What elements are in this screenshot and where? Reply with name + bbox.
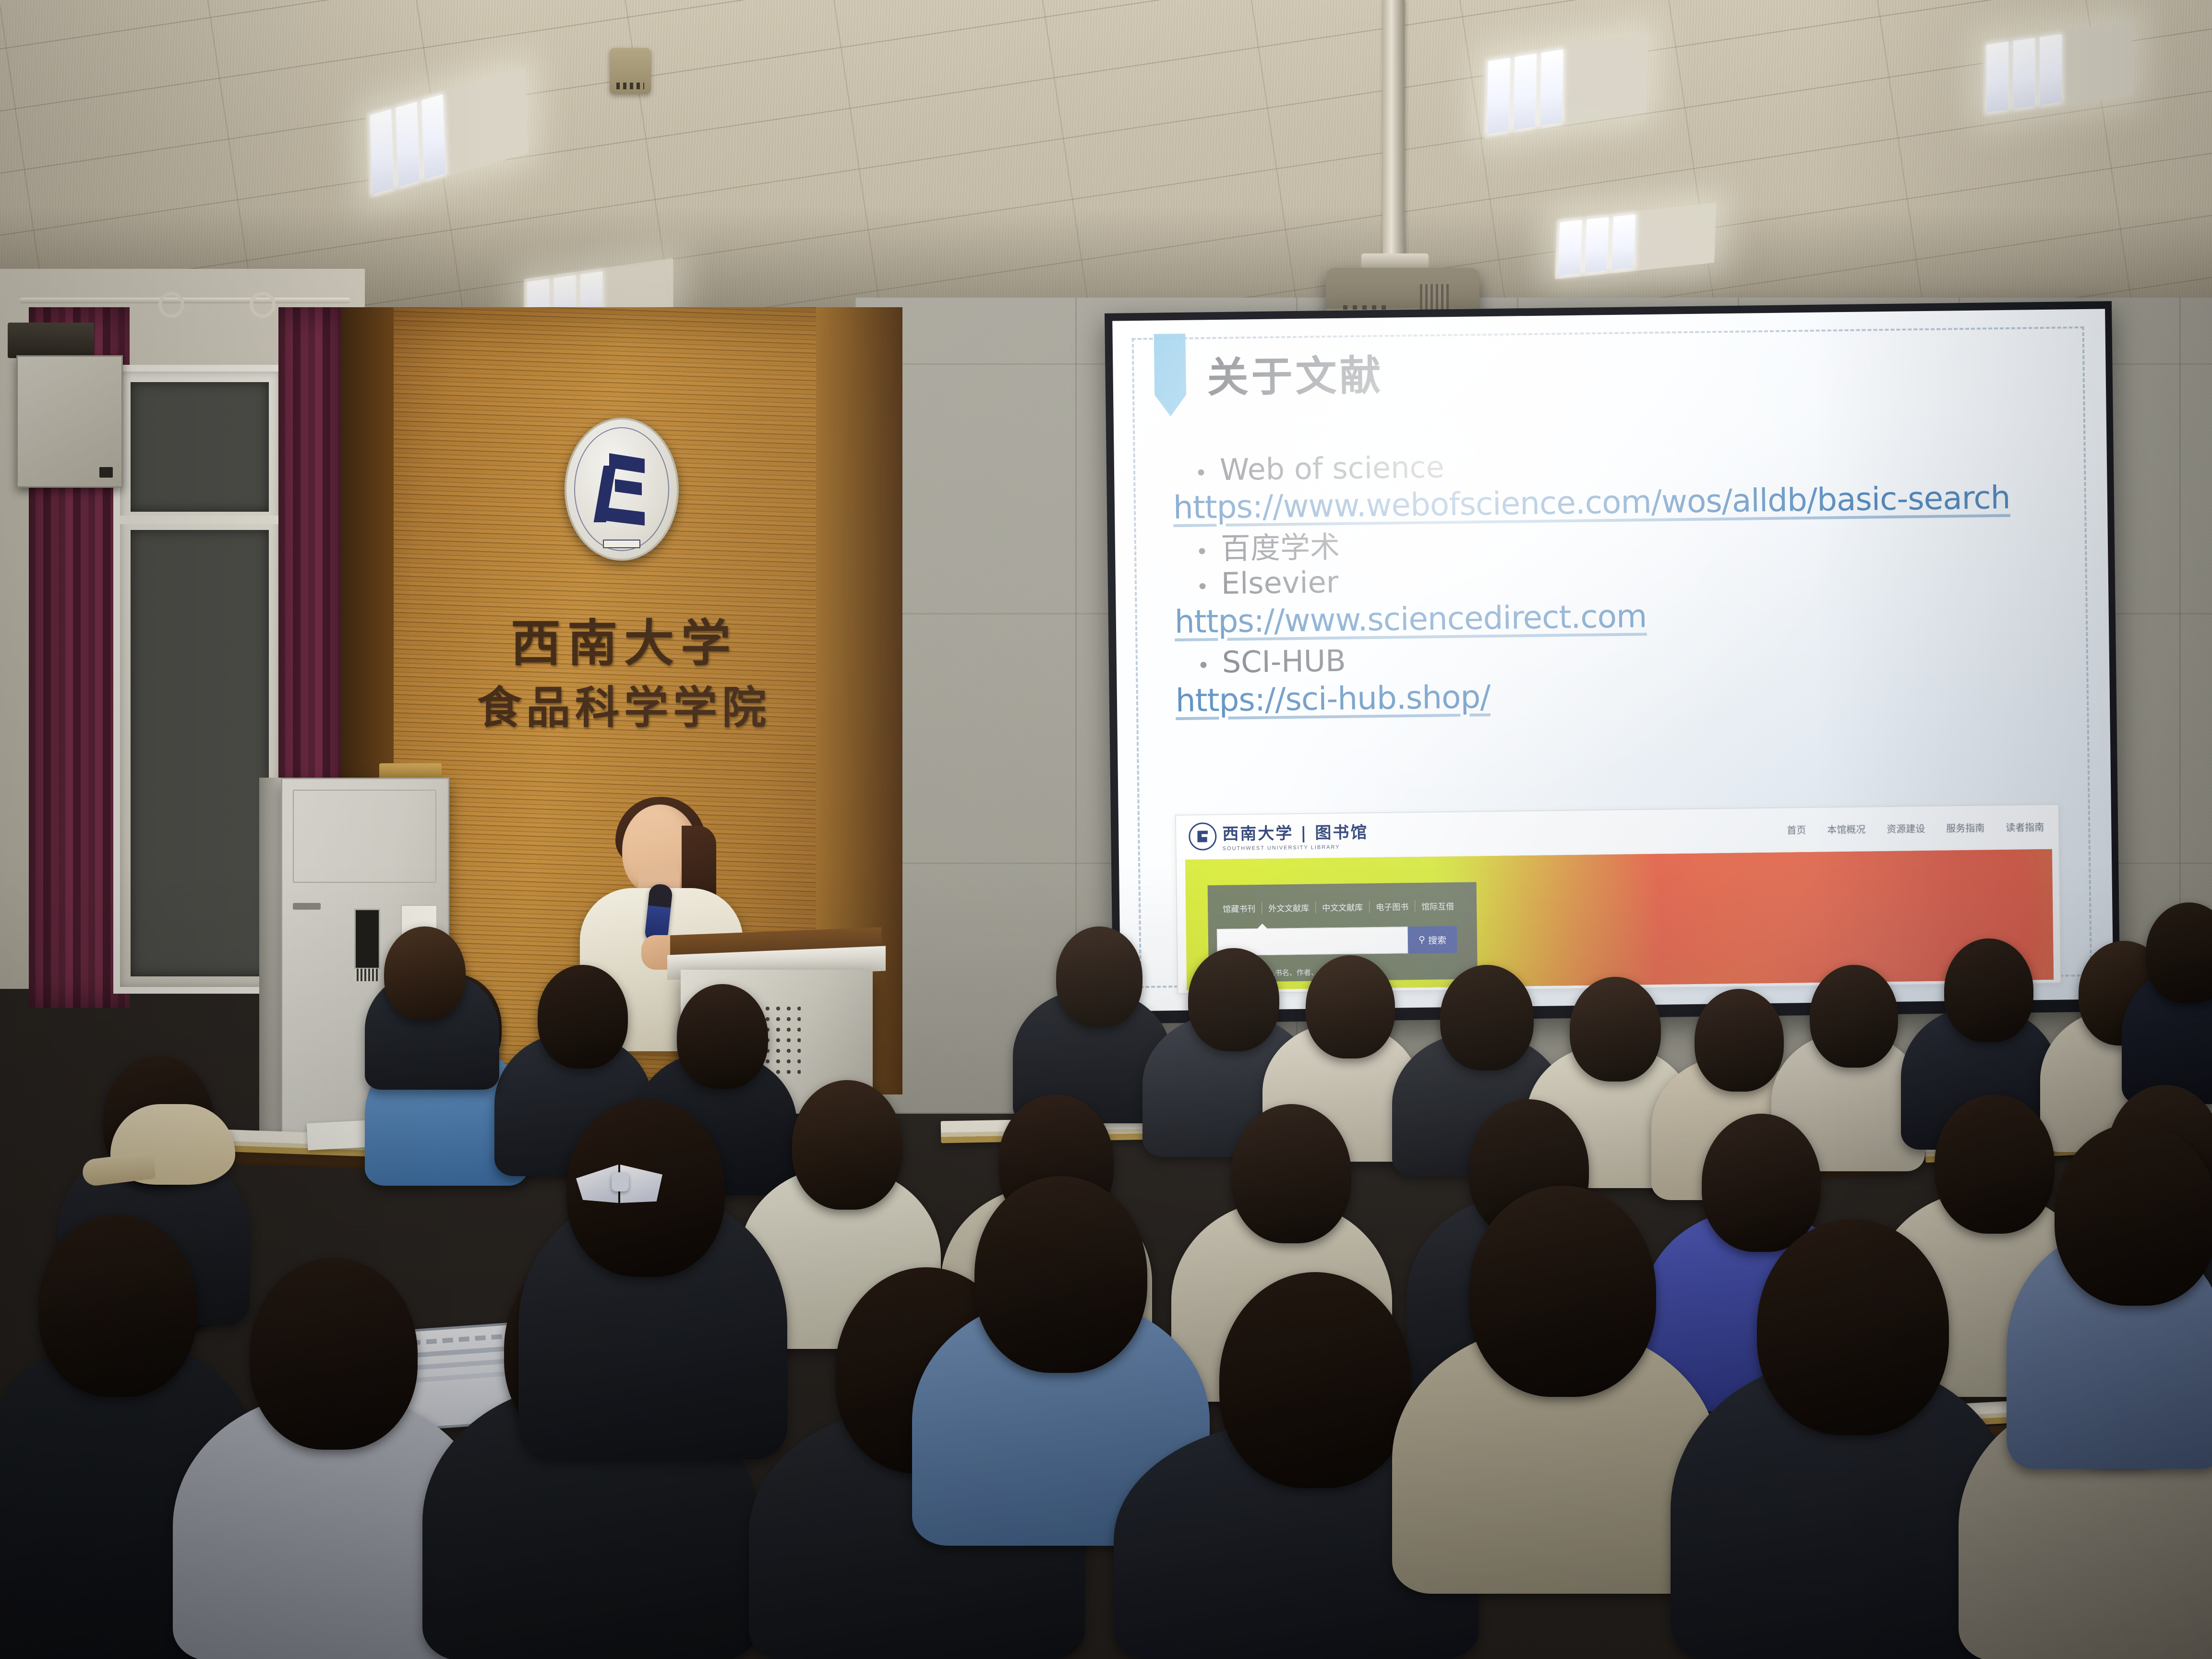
audience-head xyxy=(1695,989,1784,1092)
audience-head xyxy=(2055,1123,2212,1306)
projector-vent xyxy=(1420,284,1449,311)
baseball-cap xyxy=(110,1104,235,1185)
library-hero-banner: 馆藏书刊 外文文献库 中文文献库 电子图书 馆际互借 ⚲ 搜索 xyxy=(1185,849,2054,990)
hair-bow xyxy=(576,1162,662,1206)
audience-head xyxy=(974,1176,1147,1373)
projector-leds xyxy=(1343,305,1387,310)
audience-head xyxy=(384,926,466,1020)
cabinet-side xyxy=(259,778,282,1142)
wall-university-name: 西南大学 xyxy=(490,602,758,675)
curtain-ring xyxy=(158,292,184,318)
bullet-marker: • xyxy=(1197,656,1210,677)
library-logo: 西南大学 | 图书馆 SOUTHWEST UNIVERSITY LIBRARY xyxy=(1189,819,1369,852)
library-website-screenshot: 西南大学 | 图书馆 SOUTHWEST UNIVERSITY LIBRARY … xyxy=(1175,804,2061,994)
library-search-bar: ⚲ 搜索 xyxy=(1217,926,1457,956)
library-nav-item[interactable]: 本馆概况 xyxy=(1827,821,1865,836)
wall-speaker xyxy=(16,355,123,488)
audience-head xyxy=(1219,1272,1411,1488)
audience-head xyxy=(1935,1094,2055,1234)
curtain-ring xyxy=(250,292,276,318)
library-seal-icon xyxy=(1189,822,1217,851)
audience-head xyxy=(1056,926,1142,1027)
library-nav-item[interactable]: 资源建设 xyxy=(1887,821,1925,835)
slide-title: 关于文献 xyxy=(1207,342,1384,404)
audience-head xyxy=(1757,1219,1949,1435)
audience-head xyxy=(1188,948,1279,1051)
audience-head xyxy=(1469,1186,1656,1397)
cabinet-slot xyxy=(354,909,380,969)
library-tab[interactable]: 外文文献库 xyxy=(1262,902,1316,914)
audience-head xyxy=(1810,965,1898,1068)
audience-head xyxy=(250,1258,418,1450)
audience-head xyxy=(1306,955,1395,1058)
library-tab[interactable]: 馆际互借 xyxy=(1415,900,1460,912)
library-tab[interactable]: 电子图书 xyxy=(1370,900,1415,913)
bullet-label: SCI-HUB xyxy=(1222,644,1346,679)
active-tab-caret-icon xyxy=(1257,924,1268,929)
audience-head xyxy=(792,1080,902,1210)
wall-college-name: 食品科学学院 xyxy=(442,672,806,736)
search-icon: ⚲ xyxy=(1419,934,1425,945)
library-logo-zh: 西南大学 | 图书馆 xyxy=(1222,819,1369,844)
audience-head xyxy=(1570,977,1661,1082)
library-nav-item[interactable]: 首页 xyxy=(1787,822,1806,836)
library-tab[interactable]: 中文文献库 xyxy=(1316,901,1370,913)
audience-head xyxy=(38,1214,197,1397)
lecture-hall-photo: 西南大学 食品科学学院 关于文献 • xyxy=(0,0,2212,1659)
library-nav-item[interactable]: 服务指南 xyxy=(1946,820,1984,834)
audience-head xyxy=(1231,1104,1351,1243)
library-tab[interactable]: 馆藏书刊 xyxy=(1216,902,1262,914)
audience-head xyxy=(1944,938,2033,1042)
bullet-marker: • xyxy=(1196,577,1209,598)
bullet-label: Elsevier xyxy=(1221,565,1338,600)
curtain-rod xyxy=(19,298,350,303)
library-search-tabs: 馆藏书刊 外文文献库 中文文献库 电子图书 馆际互借 xyxy=(1216,899,1477,914)
audience-head xyxy=(677,984,768,1089)
library-logo-en: SOUTHWEST UNIVERSITY LIBRARY xyxy=(1223,844,1369,852)
smoke-detector-icon xyxy=(610,48,651,94)
audience-head xyxy=(1440,965,1534,1070)
library-search-button[interactable]: ⚲ 搜索 xyxy=(1408,926,1457,953)
audience-head xyxy=(1702,1114,1821,1252)
speaker-bracket xyxy=(8,323,94,358)
library-site-header: 西南大学 | 图书馆 SOUTHWEST UNIVERSITY LIBRARY … xyxy=(1176,805,2059,858)
projector-mount-pole xyxy=(1382,0,1405,259)
projection-screen-frame: 关于文献 • Web of science https://www.webofs… xyxy=(1105,301,2120,1024)
bullet-marker: • xyxy=(1195,463,1207,484)
cabinet-handle[interactable] xyxy=(293,903,321,910)
slide-body: • Web of science https://www.webofscienc… xyxy=(1173,443,2057,725)
bullet-label: 百度学术 xyxy=(1221,530,1340,565)
projection-screen: 关于文献 • Web of science https://www.webofs… xyxy=(1112,309,2113,1011)
university-emblem-icon xyxy=(565,418,679,561)
bullet-label: Web of science xyxy=(1220,450,1444,486)
audience-head xyxy=(538,965,628,1069)
cabinet-door-panel xyxy=(293,790,436,883)
library-nav: 首页 本馆概况 资源建设 服务指南 读者指南 xyxy=(1787,819,2044,837)
library-nav-item[interactable]: 读者指南 xyxy=(2006,819,2044,834)
library-search-button-label: 搜索 xyxy=(1428,933,1446,946)
bullet-marker: • xyxy=(1196,541,1208,563)
